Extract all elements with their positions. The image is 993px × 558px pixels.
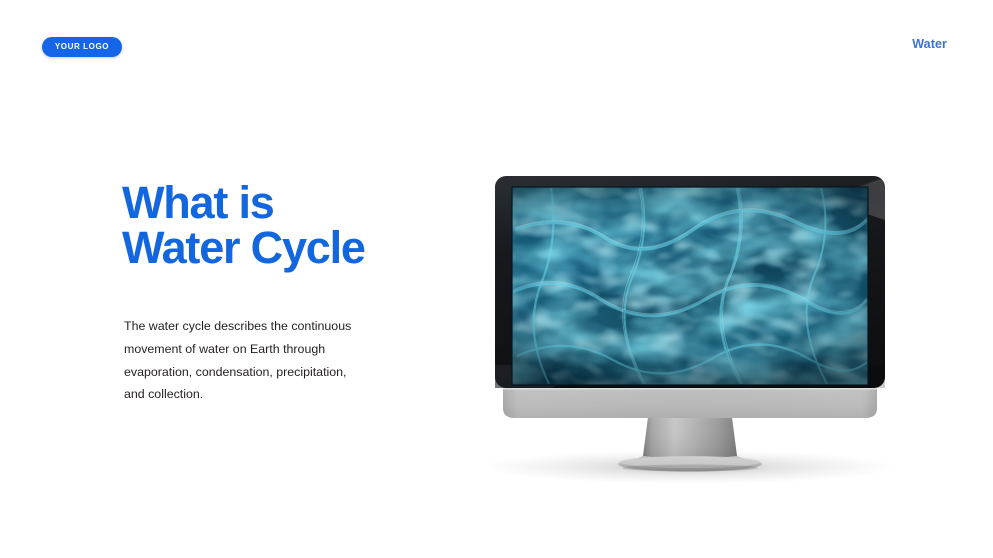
top-navigation: Water xyxy=(912,38,947,51)
water-screen-vignette xyxy=(512,187,868,385)
monitor-illustration xyxy=(455,160,925,490)
monitor-stand-foot-shadow xyxy=(622,465,758,472)
brand-logo-badge[interactable]: YOUR LOGO xyxy=(42,37,122,57)
page-title: What is Water Cycle xyxy=(122,180,482,270)
hero-paragraph: The water cycle describes the continuous… xyxy=(124,315,356,405)
nav-link-water[interactable]: Water xyxy=(912,38,947,51)
monitor-chin-top-edge xyxy=(503,388,877,390)
monitor-chin-sheen xyxy=(503,388,877,418)
headline-line-2: Water Cycle xyxy=(122,225,482,270)
desktop-monitor xyxy=(455,160,925,490)
headline-line-1: What is xyxy=(122,177,274,228)
water-caustics-photo xyxy=(512,187,868,385)
brand-logo-label: YOUR LOGO xyxy=(55,43,109,51)
slide-canvas: YOUR LOGO Water What is Water Cycle The … xyxy=(0,0,993,558)
